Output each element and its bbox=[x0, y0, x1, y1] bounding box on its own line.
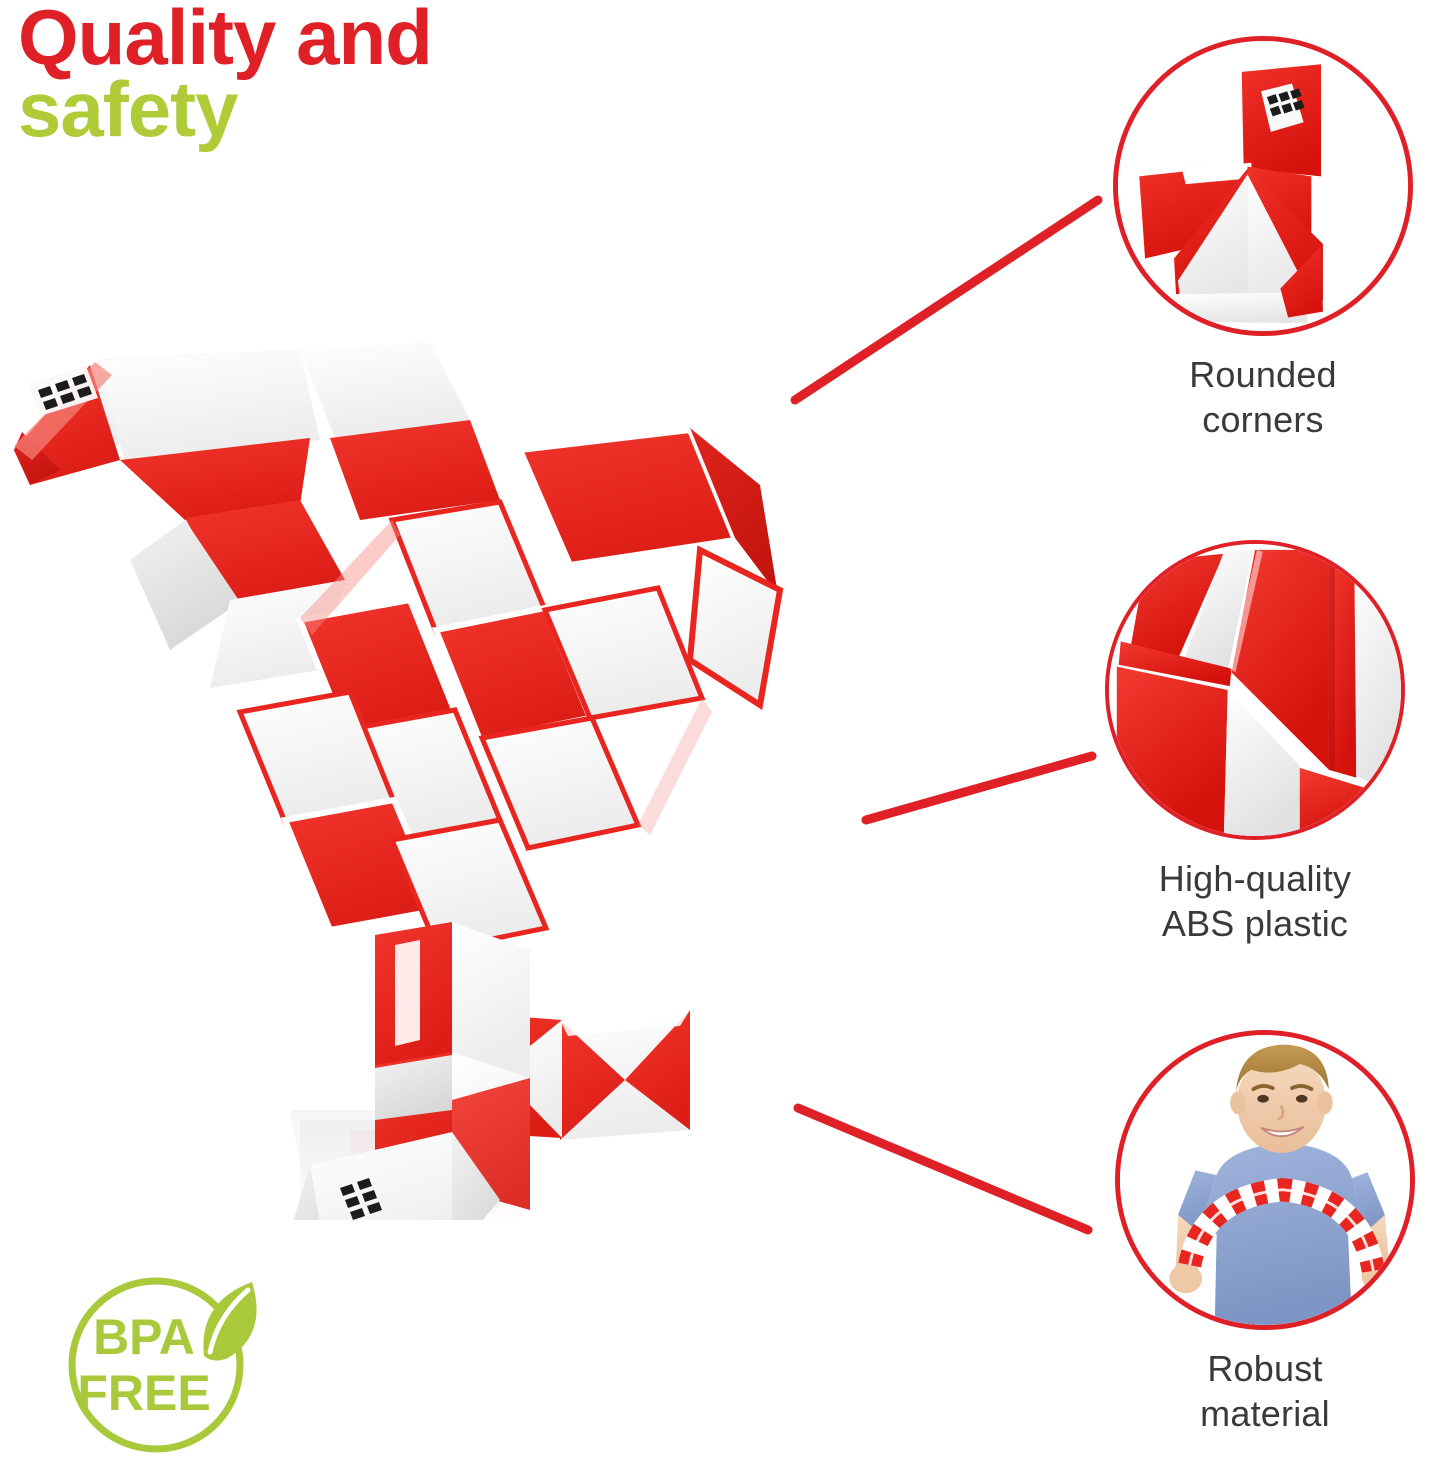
leader-line-1 bbox=[795, 200, 1098, 400]
badge-line-2: FREE bbox=[77, 1365, 210, 1421]
callout-label-abs-plastic: High-quality ABS plastic bbox=[1090, 856, 1420, 946]
product-image bbox=[0, 320, 800, 1220]
callout-robust-material: Robust material bbox=[1100, 1030, 1430, 1436]
leader-line-3 bbox=[798, 1108, 1088, 1230]
callout-label-line2: ABS plastic bbox=[1090, 901, 1420, 946]
page-title: Quality and safety bbox=[18, 2, 432, 146]
callout-rounded-corners: Rounded corners bbox=[1098, 36, 1428, 442]
infographic-page: Quality and safety bbox=[0, 0, 1445, 1460]
callout-label-line2: corners bbox=[1098, 397, 1428, 442]
leaf-icon bbox=[203, 1282, 256, 1361]
callout-label-line1: High-quality bbox=[1090, 856, 1420, 901]
puzzle-body bbox=[240, 428, 780, 950]
callout-label-rounded-corners: Rounded corners bbox=[1098, 352, 1428, 442]
title-line-2: safety bbox=[18, 74, 432, 146]
bpa-free-badge: BPA FREE bbox=[52, 1272, 284, 1458]
callout-label-line1: Rounded bbox=[1098, 352, 1428, 397]
callout-abs-plastic: High-quality ABS plastic bbox=[1090, 540, 1420, 946]
boy-tshirt bbox=[1199, 1145, 1363, 1325]
callout-label-robust-material: Robust material bbox=[1100, 1346, 1430, 1436]
rounded-corner-macro-art bbox=[1118, 41, 1408, 331]
callout-circle-abs-plastic bbox=[1105, 540, 1405, 840]
badge-line-1: BPA bbox=[93, 1309, 195, 1365]
callout-label-line1: Robust bbox=[1100, 1346, 1430, 1391]
callout-circle-rounded-corners bbox=[1113, 36, 1413, 336]
callout-label-line2: material bbox=[1100, 1391, 1430, 1436]
abs-plastic-macro-art bbox=[1109, 544, 1401, 836]
title-line-1: Quality and bbox=[18, 2, 432, 74]
leader-line-2 bbox=[866, 756, 1092, 820]
callout-circle-robust-material bbox=[1115, 1030, 1415, 1330]
puzzle-head bbox=[14, 350, 320, 520]
boy-with-puzzle-photo-art bbox=[1120, 1035, 1410, 1325]
boy-left-hand bbox=[1169, 1264, 1202, 1293]
